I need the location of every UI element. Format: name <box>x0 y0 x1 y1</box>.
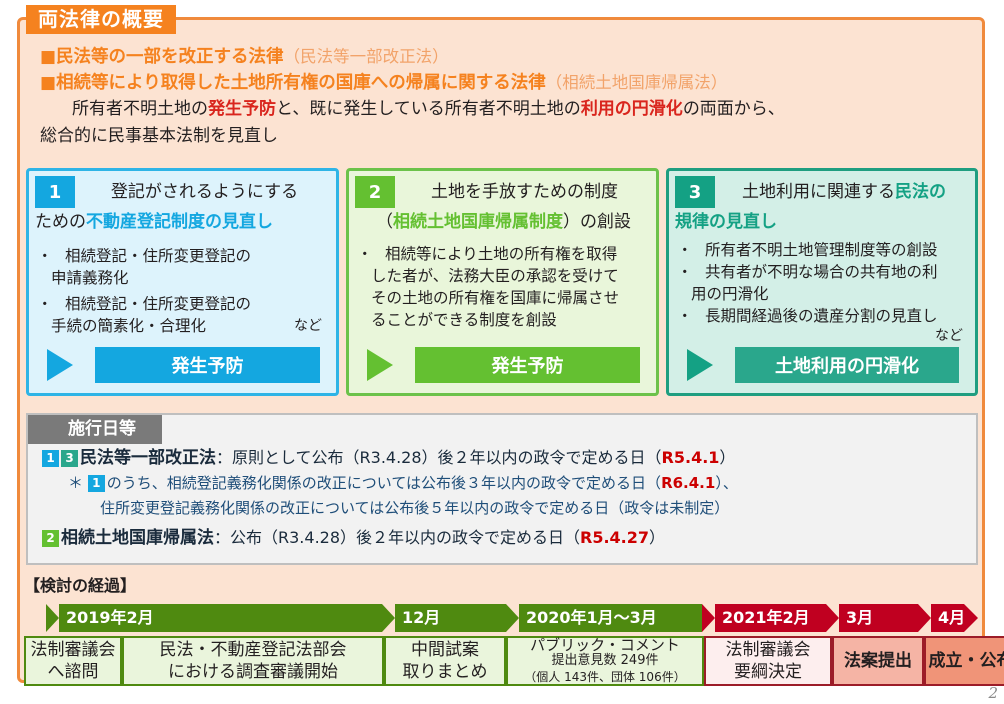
badge-1-icon: 1 <box>42 450 59 467</box>
measure-cta-label: 発生予防 <box>415 347 640 383</box>
summary-text-a: 所有者不明土地の <box>72 99 208 119</box>
bullet-text: 長期間経過後の遺産分割の見直し <box>691 305 969 327</box>
list-item: ・ 相続登記・住所変更登記の 手続の簡素化・合理化 <box>37 293 330 337</box>
bullet-line: 相続登記・住所変更登記の <box>51 245 330 267</box>
bullet-text: 相続等により土地の所有権を取得 した者が、法務大臣の承認を受けて その土地の所有… <box>371 243 650 331</box>
heading-highlight: 民法の <box>895 182 946 202</box>
timeline-cell: 中間試案 取りまとめ <box>384 636 506 686</box>
measure-cta-label: 土地利用の円滑化 <box>735 347 959 383</box>
measure-heading-line-2: 規律の見直し <box>675 207 971 237</box>
timeline-cell: 成立・公布 <box>924 636 1004 686</box>
play-arrow-icon <box>367 349 393 381</box>
etc-label: など <box>935 327 963 345</box>
cell-line: 法制審議会 <box>26 639 120 661</box>
enforcement-text-a: ：公布（R3.4.28）後２年以内の政令で定める日（ <box>214 528 580 547</box>
measure-number-badge: 1 <box>35 176 75 208</box>
timeline-segment: 2021年2月 <box>702 604 826 632</box>
cell-line: パブリック・コメント <box>508 637 702 653</box>
enforcement-law-name: 民法等一部改正法 <box>80 448 216 468</box>
enforcement-body: 13民法等一部改正法：原則として公布（R3.4.28）後２年以内の政令で定める日… <box>42 445 968 551</box>
cell-line: 法案提出 <box>834 650 922 672</box>
law1-short: （民法等一部改正法） <box>284 47 449 66</box>
timeline-segment: 12月 <box>382 604 506 632</box>
timeline-cell: 民法・不動産登記法部会 における調査審議開始 <box>122 636 384 686</box>
measure-number-badge: 3 <box>675 176 715 208</box>
enforcement-panel: 施行日等 13民法等一部改正法：原則として公布（R3.4.28）後２年以内の政令… <box>26 413 978 565</box>
asterisk-icon: ＊ <box>68 474 83 492</box>
badge-3-icon: 3 <box>61 450 78 467</box>
enforcement-tab-label: 施行日等 <box>28 415 162 444</box>
intro-law-1: ■民法等の一部を改正する法律（民法等一部改正法） <box>40 44 970 70</box>
slide-root: 両法律の概要 ■民法等の一部を改正する法律（民法等一部改正法） ■相続等により取… <box>0 0 1004 704</box>
heading-highlight: 相続土地国庫帰属制度 <box>393 212 563 232</box>
bullet-square-icon: ■ <box>40 73 56 93</box>
measure-cta-row: 発生予防 <box>359 347 646 383</box>
list-item: ・ 相続等により土地の所有権を取得 した者が、法務大臣の承認を受けて その土地の… <box>357 243 650 331</box>
timeline-cell: 法制審議会 へ諮問 <box>24 636 122 686</box>
heading-text-a: （ <box>376 212 393 232</box>
bullet-text: 共有者が不明な場合の共有地の利 用の円滑化 <box>691 261 969 305</box>
note-date: R6.4.1 <box>661 474 715 492</box>
measure-cta-label: 発生予防 <box>95 347 320 383</box>
timeline-bar: 2019年2月 12月 2020年1月～3月 2021年2月 3月 4月 <box>46 604 978 632</box>
enforcement-row-2: 2相続土地国庫帰属法：公布（R3.4.28）後２年以内の政令で定める日（R5.4… <box>42 525 968 551</box>
heading-text-a: 土地利用に関連する <box>742 182 895 202</box>
bullet-dot-icon: ・ <box>357 243 371 331</box>
badge-2-icon: 2 <box>42 530 59 547</box>
note-text-b: ）、 <box>715 474 738 492</box>
page-number: 2 <box>988 684 998 702</box>
bullet-line: 用の円滑化 <box>691 283 969 305</box>
measure-heading-line-2: ための不動産登記制度の見直し <box>35 207 332 237</box>
enforcement-note-2: 住所変更登記義務化関係の改正については公布後５年以内の政令で定める日（政令は未制… <box>42 496 968 521</box>
timeline-cell: 法制審議会 要綱決定 <box>704 636 832 686</box>
play-arrow-icon <box>47 349 73 381</box>
cell-line: 要綱決定 <box>706 661 830 683</box>
etc-label: など <box>294 317 322 335</box>
list-item: ・ 相続登記・住所変更登記の 申請義務化 <box>37 245 330 289</box>
heading-highlight-2: 規律の見直し <box>675 212 777 232</box>
play-arrow-icon <box>687 349 713 381</box>
enforcement-text-b: ） <box>649 528 665 547</box>
measure-box-3: 3 土地利用に関連する民法の 規律の見直し ・ 所有者不明土地管理制度等の創設 … <box>666 168 978 396</box>
enforcement-text-a: ：原則として公布（R3.4.28）後２年以内の政令で定める日（ <box>216 448 662 467</box>
bullet-line: した者が、法務大臣の承認を受けて <box>371 265 650 287</box>
timeline-segment: 2019年2月 <box>46 604 382 632</box>
law2-short: （相続土地国庫帰属法） <box>546 73 728 92</box>
cell-line: （個人 143件、団体 106件） <box>508 669 702 685</box>
measure-heading-line-1: 登記がされるようにする <box>79 177 330 207</box>
note-text-a: のうち、相続登記義務化関係の改正については公布後３年以内の政令で定める日（ <box>107 474 661 492</box>
measure-bullet-list: ・ 相続等により土地の所有権を取得 した者が、法務大臣の承認を受けて その土地の… <box>357 243 650 331</box>
timeline-cell: パブリック・コメント 提出意見数 249件 （個人 143件、団体 106件） <box>506 636 704 686</box>
enforcement-row-1: 13民法等一部改正法：原則として公布（R3.4.28）後２年以内の政令で定める日… <box>42 445 968 471</box>
bullet-line: 手続の簡素化・合理化 <box>51 315 330 337</box>
timeline-segment: 2020年1月～3月 <box>506 604 702 632</box>
badge-1-icon: 1 <box>88 475 105 492</box>
list-item: ・ 共有者が不明な場合の共有地の利 用の円滑化 <box>677 261 969 305</box>
cell-line: 成立・公布 <box>926 650 1004 672</box>
bullet-dot-icon: ・ <box>677 261 691 305</box>
enforcement-note-1: ＊ 1のうち、相続登記義務化関係の改正については公布後３年以内の政令で定める日（… <box>42 471 968 496</box>
timeline-segment: 4月 <box>918 604 964 632</box>
cell-line: 中間試案 <box>386 639 504 661</box>
heading-text-b: ）の創設 <box>563 212 631 232</box>
cell-line: 提出意見数 249件 <box>508 653 702 669</box>
cell-line: における調査審議開始 <box>124 661 382 683</box>
intro-law-2: ■相続等により取得した土地所有権の国庫への帰属に関する法律（相続土地国庫帰属法） <box>40 70 970 96</box>
enforcement-date: R5.4.1 <box>662 448 720 467</box>
measures-container: 1 登記がされるようにする ための不動産登記制度の見直し ・ 相続登記・住所変更… <box>26 168 978 396</box>
cell-line: 民法・不動産登記法部会 <box>124 639 382 661</box>
bullet-text: 相続登記・住所変更登記の 申請義務化 <box>51 245 330 289</box>
measure-cta-row: 発生予防 <box>39 347 326 383</box>
enforcement-text-b: ） <box>719 448 735 467</box>
measure-heading-line-1: 土地を手放すための制度 <box>399 177 650 207</box>
bullet-line: ることができる制度を創設 <box>371 309 650 331</box>
law2-name: 相続等により取得した土地所有権の国庫への帰属に関する法律 <box>56 73 546 93</box>
bullet-dot-icon: ・ <box>677 239 691 261</box>
summary-text-b: と、既に発生している所有者不明土地の <box>276 99 581 119</box>
bullet-text: 所有者不明土地管理制度等の創設 <box>691 239 969 261</box>
law1-name: 民法等の一部を改正する法律 <box>56 47 284 67</box>
measure-heading-line-1: 土地利用に関連する民法の <box>719 177 969 207</box>
bullet-square-icon: ■ <box>40 47 56 67</box>
measure-box-2: 2 土地を手放すための制度 （相続土地国庫帰属制度）の創設 ・ 相続等により土地… <box>346 168 659 396</box>
bullet-line: 相続登記・住所変更登記の <box>51 293 330 315</box>
list-item: ・ 長期間経過後の遺産分割の見直し <box>677 305 969 327</box>
measure-bullet-list: ・ 相続登記・住所変更登記の 申請義務化 ・ 相続登記・住所変更登記の 手続の簡… <box>37 245 330 337</box>
cell-line: 取りまとめ <box>386 661 504 683</box>
measure-cta-row: 土地利用の円滑化 <box>679 347 965 383</box>
intro-summary-line-1: 所有者不明土地の発生予防と、既に発生している所有者不明土地の利用の円滑化の両面か… <box>40 96 970 123</box>
measure-bullet-list: ・ 所有者不明土地管理制度等の創設 ・ 共有者が不明な場合の共有地の利 用の円滑… <box>677 239 969 327</box>
bullet-line: 申請義務化 <box>51 267 330 289</box>
timeline-cells: 法制審議会 へ諮問 民法・不動産登記法部会 における調査審議開始 中間試案 取り… <box>24 636 978 686</box>
timeline-segment: 3月 <box>826 604 918 632</box>
page-title: 両法律の概要 <box>26 5 176 34</box>
summary-text-c: の両面から、 <box>683 99 785 119</box>
bullet-dot-icon: ・ <box>37 293 51 337</box>
timeline-cell: 法案提出 <box>832 636 924 686</box>
bullet-line: 相続等により土地の所有権を取得 <box>371 243 650 265</box>
measure-number-badge: 2 <box>355 176 395 208</box>
summary-highlight-utilization: 利用の円滑化 <box>581 99 683 119</box>
timeline-title: 【検討の経過】 <box>24 572 136 596</box>
bullet-line: その土地の所有権を国庫に帰属させ <box>371 287 650 309</box>
cell-line: へ諮問 <box>26 661 120 683</box>
enforcement-date: R5.4.27 <box>580 528 649 547</box>
bullet-line: 共有者が不明な場合の共有地の利 <box>691 261 969 283</box>
summary-highlight-prevention: 発生予防 <box>208 99 276 119</box>
enforcement-law-name: 相続土地国庫帰属法 <box>61 528 214 548</box>
measure-heading-line-2: （相続土地国庫帰属制度）の創設 <box>355 207 652 237</box>
measure-box-1: 1 登記がされるようにする ための不動産登記制度の見直し ・ 相続登記・住所変更… <box>26 168 339 396</box>
heading-highlight: 不動産登記制度の見直し <box>86 212 273 232</box>
intro-block: ■民法等の一部を改正する法律（民法等一部改正法） ■相続等により取得した土地所有… <box>40 44 970 150</box>
intro-summary-line-2: 総合的に民事基本法制を見直し <box>40 123 970 150</box>
bullet-dot-icon: ・ <box>677 305 691 327</box>
bullet-dot-icon: ・ <box>37 245 51 289</box>
list-item: ・ 所有者不明土地管理制度等の創設 <box>677 239 969 261</box>
bullet-text: 相続登記・住所変更登記の 手続の簡素化・合理化 <box>51 293 330 337</box>
heading-text-a: ための <box>35 212 86 232</box>
cell-line: 法制審議会 <box>706 639 830 661</box>
